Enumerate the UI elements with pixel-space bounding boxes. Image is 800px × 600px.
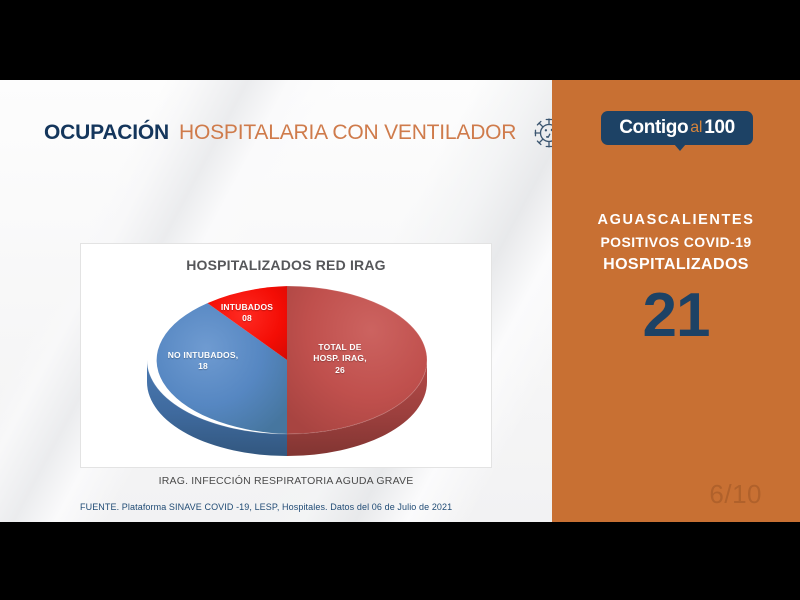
pie-label-intubados-value: 08: [242, 313, 252, 323]
pie-label-total: TOTAL DE HOSP. IRAG, 26: [287, 342, 393, 376]
hospitalized-count: 21: [552, 285, 800, 347]
slide-header: OCUPACIÓN HOSPITALARIA CON VENTILADOR: [44, 116, 566, 150]
pie-label-no-intubados-name: NO INTUBADOS,: [168, 350, 239, 360]
side-panel: Contigo al 100 AGUASCALIENTES POSITIVOS …: [552, 80, 800, 522]
pie-label-total-line1: TOTAL DE: [318, 342, 361, 352]
screenshot-stage: OCUPACIÓN HOSPITALARIA CON VENTILADOR: [0, 0, 800, 600]
source-note: FUENTE. Plataforma SINAVE COVID -19, LES…: [80, 502, 500, 512]
pie-label-intubados-name: INTUBADOS: [221, 302, 273, 312]
pie-label-no-intubados: NO INTUBADOS, 18: [151, 350, 255, 373]
page-title-bold: OCUPACIÓN: [44, 121, 169, 145]
logo-text-contigo: Contigo: [619, 117, 688, 139]
pie-label-no-intubados-value: 18: [198, 361, 208, 371]
pie-label-total-value: 26: [335, 365, 345, 375]
logo-text-100: 100: [704, 117, 735, 139]
page-title-light: HOSPITALARIA CON VENTILADOR: [179, 121, 516, 145]
pie-label-total-line2: HOSP. IRAG,: [313, 353, 367, 363]
chart-title: HOSPITALIZADOS RED IRAG: [81, 257, 491, 273]
chart-footnote: IRAG. INFECCIÓN RESPIRATORIA AGUDA GRAVE: [80, 475, 492, 487]
pie-label-intubados: INTUBADOS 08: [205, 302, 289, 325]
panel-heading-state: AGUASCALIENTES: [552, 210, 800, 232]
pie-chart: INTUBADOS 08 NO INTUBADOS, 18 TOTAL DE H…: [139, 282, 435, 460]
logo-text-al: al: [689, 119, 703, 137]
panel-heading-category: HOSPITALIZADOS: [552, 253, 800, 277]
chart-card: HOSPITALIZADOS RED IRAG: [80, 243, 492, 468]
contigo-al-100-logo: Contigo al 100: [601, 111, 753, 145]
page-indicator: 6/10: [709, 479, 762, 510]
panel-heading-subtitle: POSITIVOS COVID-19: [552, 232, 800, 253]
panel-heading: AGUASCALIENTES POSITIVOS COVID-19 HOSPIT…: [552, 210, 800, 277]
presentation-slide: OCUPACIÓN HOSPITALARIA CON VENTILADOR: [0, 80, 800, 522]
